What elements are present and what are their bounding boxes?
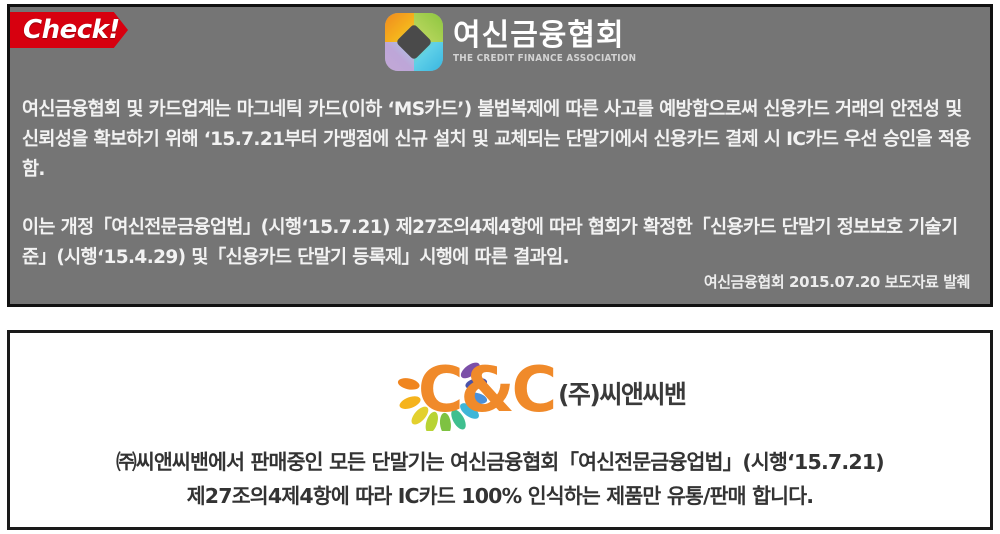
notice-paragraph-1: 여신금융협회 및 카드업계는 마그네틱 카드(이하 ‘MS카드’) 불법복제에 … <box>22 95 978 185</box>
company-statement-line-1: ㈜씨앤씨밴에서 판매중인 모든 단말기는 여신금융협회「여신전문금융업법」(시행… <box>24 445 976 479</box>
cnc-van-logo: C&C (주)씨앤씨밴 <box>380 351 620 431</box>
check-badge: Check! <box>10 12 128 48</box>
association-logo: 여신금융협회 THE CREDIT FINANCE ASSOCIATION <box>385 13 650 71</box>
company-statement: ㈜씨앤씨밴에서 판매중인 모든 단말기는 여신금융협회「여신전문금융업법」(시행… <box>24 445 976 513</box>
association-name-english: THE CREDIT FINANCE ASSOCIATION <box>453 53 636 65</box>
association-name-korean: 여신금융협회 <box>453 19 650 53</box>
paragraph-spacer <box>22 185 978 213</box>
cnc-corporate-name: (주)씨앤씨밴 <box>558 375 685 411</box>
notice-panel: Check! 여신금융협회 THE CREDIT FINANCE ASSOCIA… <box>7 4 993 307</box>
cnc-letters: C&C <box>418 357 554 423</box>
notice-body: 여신금융협회 및 카드업계는 마그네틱 카드(이하 ‘MS카드’) 불법복제에 … <box>22 95 978 273</box>
company-logo-row: C&C (주)씨앤씨밴 <box>10 351 990 431</box>
company-statement-line-2: 제27조의4제4항에 따라 IC카드 100% 인식하는 제품만 유통/판매 합… <box>24 479 976 513</box>
notice-paragraph-2: 이는 개정「여신전문금융업법」(시행‘15.7.21) 제27조의4제4항에 따… <box>22 213 978 273</box>
notice-source-credit: 여신금융협회 2015.07.20 보도자료 발췌 <box>704 271 970 292</box>
credit-finance-association-mark-icon <box>385 13 443 71</box>
company-panel: C&C (주)씨앤씨밴 ㈜씨앤씨밴에서 판매중인 모든 단말기는 여신금융협회「… <box>7 330 993 530</box>
association-wordmark: 여신금융협회 THE CREDIT FINANCE ASSOCIATION <box>453 19 650 65</box>
